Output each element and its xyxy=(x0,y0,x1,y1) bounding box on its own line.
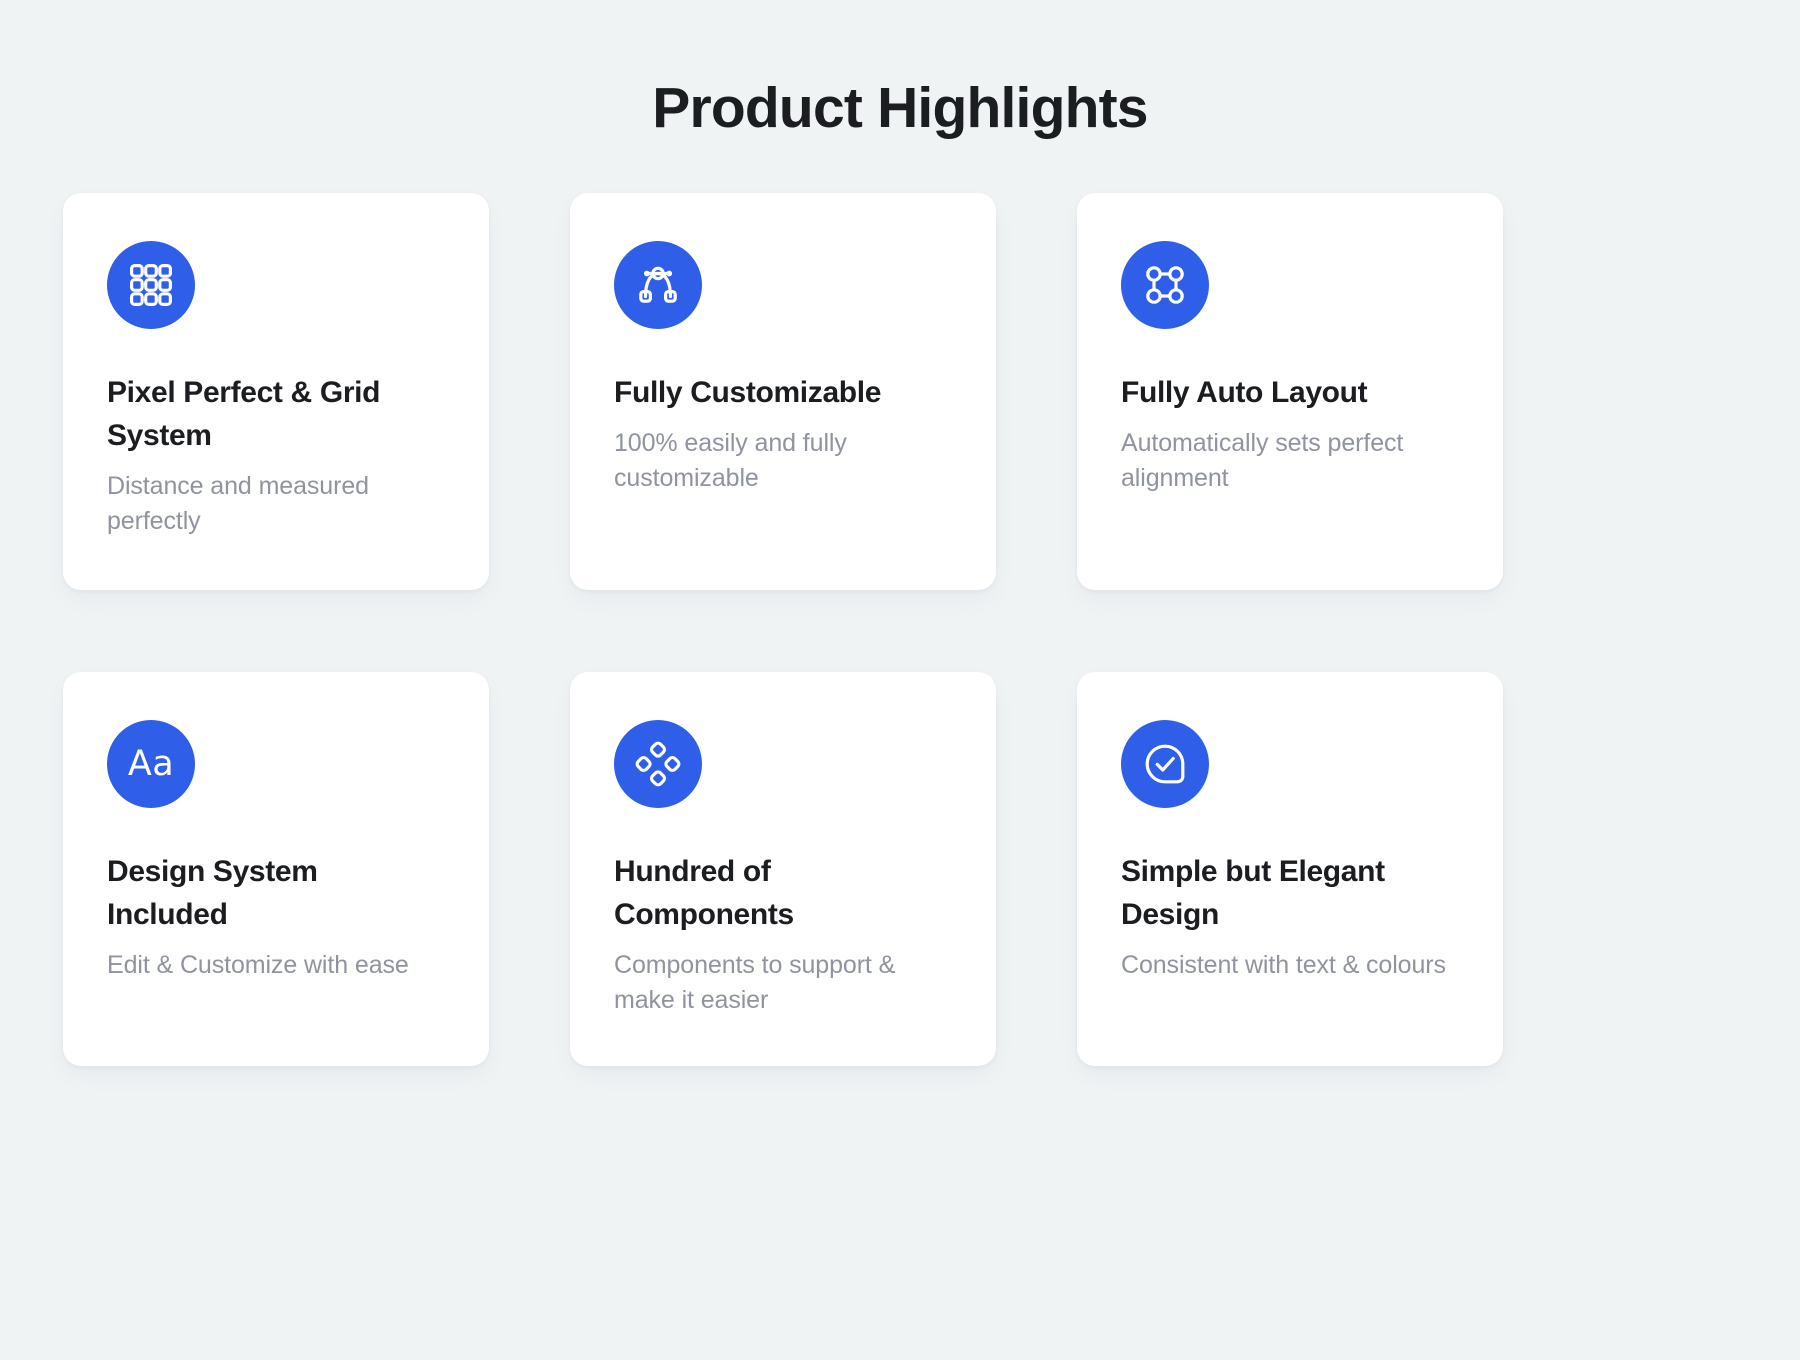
page-title: Product Highlights xyxy=(0,74,1800,142)
card-title: Hundred of Components xyxy=(614,850,944,936)
product-highlights-page: Product Highlights xyxy=(0,0,1800,1360)
card-description: Distance and measured perfectly xyxy=(107,469,437,539)
highlight-card-design-system-included[interactable]: Aa Design System Included Edit & Customi… xyxy=(63,672,489,1066)
card-title: Design System Included xyxy=(107,850,437,936)
auto-layout-nodes-icon xyxy=(1121,241,1209,329)
highlight-card-hundred-of-components[interactable]: Hundred of Components Components to supp… xyxy=(570,672,996,1066)
components-diamond-icon xyxy=(614,720,702,808)
card-title: Pixel Perfect & Grid System xyxy=(107,371,437,457)
highlights-card-grid: Pixel Perfect & Grid System Distance and… xyxy=(63,193,1503,1066)
card-description: Edit & Customize with ease xyxy=(107,948,437,983)
highlight-card-fully-customizable[interactable]: Fully Customizable 100% easily and fully… xyxy=(570,193,996,590)
grid-3x3-icon xyxy=(107,241,195,329)
highlight-card-simple-but-elegant-design[interactable]: Simple but Elegant Design Consistent wit… xyxy=(1077,672,1503,1066)
card-description: 100% easily and fully customizable xyxy=(614,426,944,496)
card-description: Consistent with text & colours xyxy=(1121,948,1451,983)
highlight-card-pixel-perfect-grid-system[interactable]: Pixel Perfect & Grid System Distance and… xyxy=(63,193,489,590)
highlight-card-fully-auto-layout[interactable]: Fully Auto Layout Automatically sets per… xyxy=(1077,193,1503,590)
check-circle-icon xyxy=(1121,720,1209,808)
card-title: Simple but Elegant Design xyxy=(1121,850,1451,936)
bezier-curve-icon xyxy=(614,241,702,329)
card-description: Components to support & make it easier xyxy=(614,948,944,1018)
typography-aa-label: Aa xyxy=(128,747,174,782)
card-description: Automatically sets perfect alignment xyxy=(1121,426,1451,496)
card-title: Fully Auto Layout xyxy=(1121,371,1451,414)
typography-aa-icon: Aa xyxy=(107,720,195,808)
card-title: Fully Customizable xyxy=(614,371,944,414)
